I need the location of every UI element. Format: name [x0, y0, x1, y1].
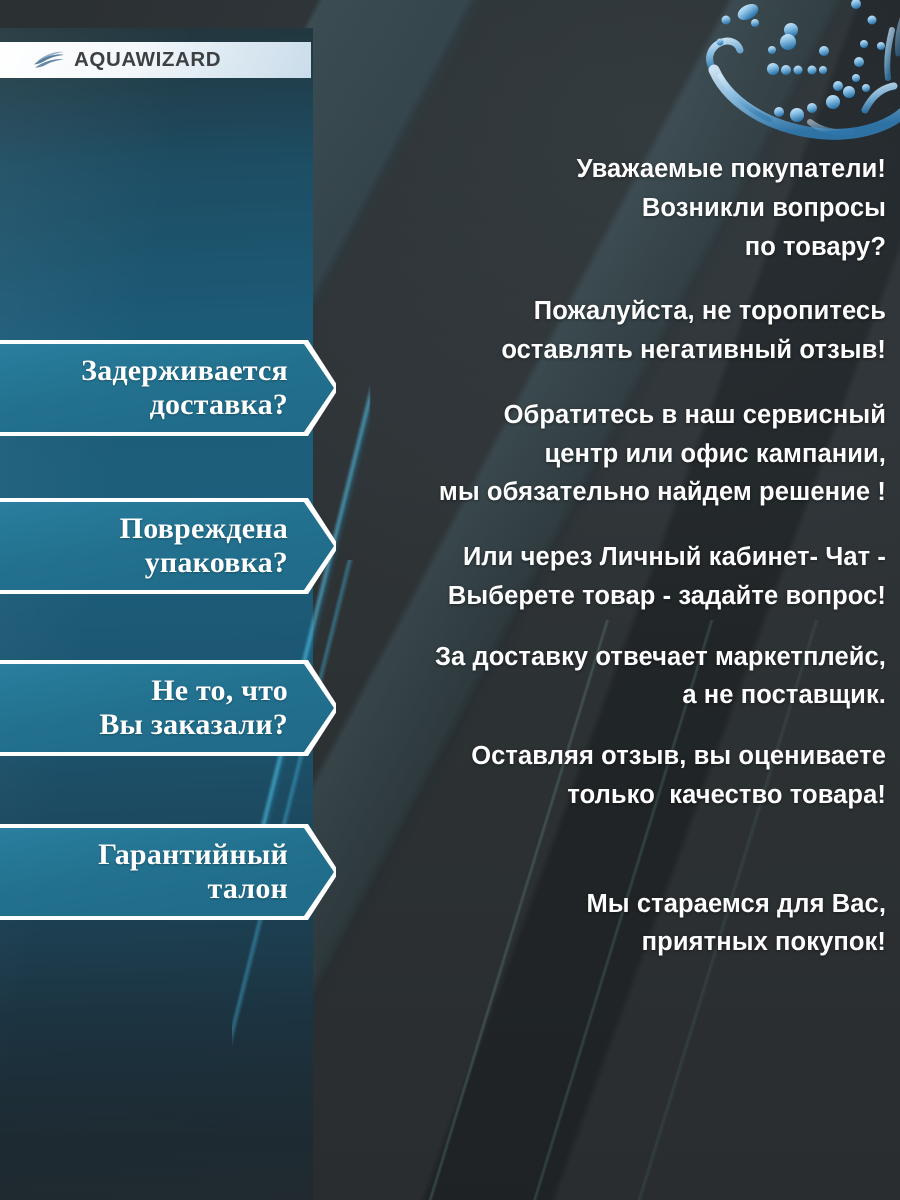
- no-negative-review-line-1: Пожалуйста, не торопитесь: [330, 292, 886, 331]
- tab-label: Задерживается доставка?: [71, 354, 336, 422]
- spacer: [330, 715, 886, 737]
- tab-label-line2: Вы заказали?: [99, 708, 288, 741]
- marketplace-responsibility-line-2: а не поставщик.: [330, 676, 886, 715]
- spacer: [330, 370, 886, 396]
- spacer: [330, 266, 886, 292]
- tab-label-line1: Гарантийный: [98, 838, 288, 871]
- tab-label-line2: талон: [208, 872, 288, 905]
- review-quality-line-2: только качество товара!: [330, 776, 886, 815]
- greeting-line-3: по товару?: [330, 228, 886, 267]
- tab-warranty-card[interactable]: Гарантийный талон: [0, 824, 336, 920]
- tab-label-line1: Не то, что: [151, 674, 288, 707]
- tab-label-line1: Задерживается: [81, 354, 288, 387]
- spacer: [330, 616, 886, 638]
- tab-label: Гарантийный талон: [88, 838, 336, 906]
- tab-packaging-damaged[interactable]: Повреждена упаковка?: [0, 498, 336, 594]
- brand-name: AQUAWIZARD: [74, 48, 221, 72]
- tab-label: Не то, что Вы заказали?: [89, 674, 336, 742]
- service-center-line-2: центр или офис кампании,: [330, 435, 886, 474]
- greeting-line-2: Возникли вопросы: [330, 189, 886, 228]
- greeting-line-1: Уважаемые покупатели!: [330, 150, 886, 189]
- service-center-line-1: Обратитесь в наш сервисный: [330, 396, 886, 435]
- tab-wrong-item[interactable]: Не то, что Вы заказали?: [0, 660, 336, 756]
- spacer: [330, 815, 886, 885]
- promo-poster: AQUAWIZARD Задерживается доставка? Повре…: [0, 0, 900, 1200]
- service-center-line-3: мы обязательно найдем решение !: [330, 473, 886, 512]
- water-wave-icon: [33, 51, 65, 69]
- tab-label-line2: доставка?: [150, 388, 288, 421]
- tab-label-line1: Повреждена: [120, 512, 288, 545]
- tab-delivery-delayed[interactable]: Задерживается доставка?: [0, 340, 336, 436]
- brand-logo: AQUAWIZARD: [0, 42, 311, 78]
- tab-label-line2: упаковка?: [145, 546, 288, 579]
- chat-instructions-line-2: Выберете товар - задайте вопрос!: [330, 577, 886, 616]
- no-negative-review-line-2: оставлять негативный отзыв!: [330, 331, 886, 370]
- tab-label: Повреждена упаковка?: [110, 512, 336, 580]
- review-quality-line-1: Оставляя отзыв, вы оцениваете: [330, 737, 886, 776]
- closing-line-2: приятных покупок!: [330, 923, 886, 962]
- chat-instructions-line-1: Или через Личный кабинет- Чат -: [330, 538, 886, 577]
- marketplace-responsibility-line-1: За доставку отвечает маркетплейс,: [330, 638, 886, 677]
- water-splash-icon: [660, 0, 900, 160]
- closing-line-1: Мы стараемся для Вас,: [330, 885, 886, 924]
- message-column: Уважаемые покупатели! Возникли вопросы п…: [330, 150, 886, 962]
- spacer: [330, 512, 886, 538]
